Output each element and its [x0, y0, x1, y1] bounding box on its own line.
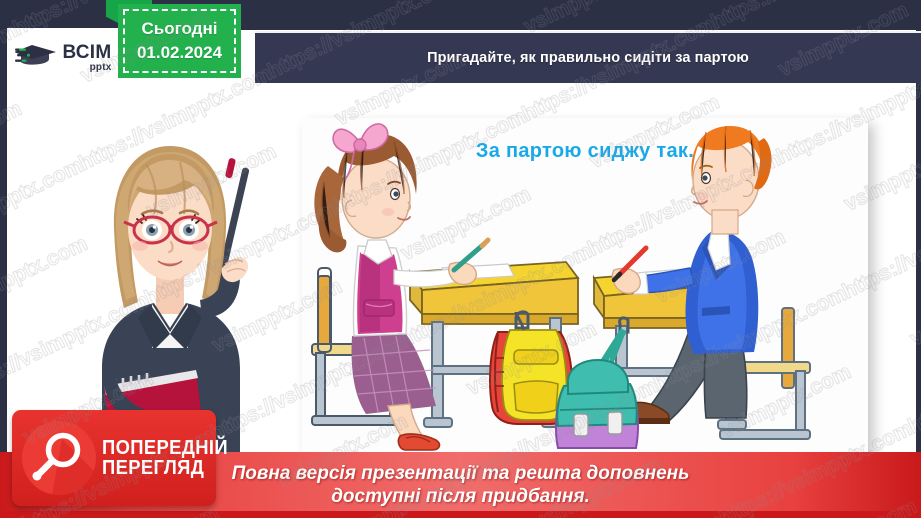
magnifier-icon	[22, 421, 96, 495]
students-at-desks-illustration	[302, 118, 868, 454]
lesson-illustration-panel: За партою сиджу так.	[302, 118, 868, 454]
preview-badge-line-1: ПОПЕРЕДНІЙ	[102, 438, 228, 458]
date-badge-label: Сьогодні	[142, 19, 218, 39]
graduation-cap-icon	[15, 41, 59, 75]
date-badge-value: 01.02.2024	[137, 43, 222, 63]
slide-canvas: ВСІМ pptx Сьогодні 01.02.2024 Пригадайте…	[0, 0, 921, 518]
preview-badge-line-2: ПЕРЕГЛЯД	[102, 458, 228, 478]
slide-header-bar: Пригадайте, як правильно сидіти за парто…	[255, 31, 921, 83]
logo-subtitle: pptx	[62, 63, 111, 73]
banner-line-2: доступні після придбання.	[331, 485, 590, 508]
left-frame-bar	[0, 0, 7, 518]
boy-student-figure	[556, 126, 810, 448]
teacher-figure	[84, 118, 284, 453]
illustration-caption: За партою сиджу так.	[302, 140, 868, 163]
logo-title: ВСІМ	[62, 43, 111, 62]
page-title: Пригадайте, як правильно сидіти за парто…	[427, 50, 749, 66]
brand-logo[interactable]: ВСІМ pptx	[7, 28, 120, 88]
today-date-badge: Сьогодні 01.02.2024	[118, 4, 241, 78]
girl-student-figure	[312, 124, 578, 450]
banner-line-1: Повна версія презентації та решта доповн…	[232, 462, 690, 485]
preview-badge[interactable]: ПОПЕРЕДНІЙ ПЕРЕГЛЯД	[12, 410, 216, 506]
